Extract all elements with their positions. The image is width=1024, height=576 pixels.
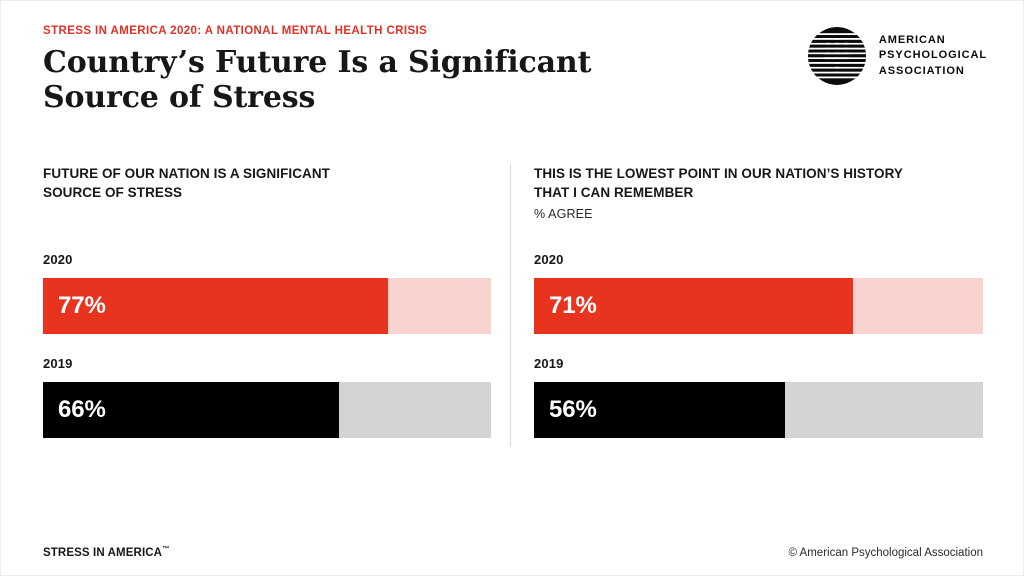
page-title: Country’s Future Is a Significant Source…	[43, 45, 603, 115]
headline-line-1: Country’s Future Is a Significant	[43, 45, 603, 80]
apa-wordmark-line-2: PSYCHOLOGICAL	[879, 48, 987, 64]
bar-group-2020: 2020 71%	[534, 253, 983, 334]
bar-track: 66%	[43, 382, 491, 438]
panel-title-line-2: SOURCE OF STRESS	[43, 185, 182, 200]
chart-panel-lowest-point: THIS IS THE LOWEST POINT IN OUR NATION’S…	[534, 164, 983, 223]
panel-title-line-2: THAT I CAN REMEMBER	[534, 185, 693, 200]
bar-fill: 66%	[43, 382, 339, 438]
panel-title: THIS IS THE LOWEST POINT IN OUR NATION’S…	[534, 164, 983, 202]
footer-brand: STRESS IN AMERICA™	[43, 545, 169, 559]
chart-panel-future-of-nation: FUTURE OF OUR NATION IS A SIGNIFICANT SO…	[43, 164, 491, 202]
bar-year-label: 2019	[534, 357, 983, 370]
eyebrow-kicker: STRESS IN AMERICA 2020: A NATIONAL MENTA…	[43, 25, 603, 39]
bar-year-label: 2020	[534, 253, 983, 266]
bar-year-label: 2020	[43, 253, 491, 266]
footer-brand-text: STRESS IN AMERICA	[43, 547, 162, 559]
bar-fill: 77%	[43, 278, 388, 334]
bar-track: 77%	[43, 278, 491, 334]
trademark-symbol: ™	[162, 545, 169, 553]
header: STRESS IN AMERICA 2020: A NATIONAL MENTA…	[43, 25, 603, 115]
bar-value-label: 66%	[43, 398, 106, 422]
bar-value-label: 56%	[534, 398, 597, 422]
bar-track: 71%	[534, 278, 983, 334]
apa-wordmark-line-3: ASSOCIATION	[879, 64, 987, 80]
headline-line-2: Source of Stress	[43, 80, 603, 115]
panel-divider	[510, 164, 511, 447]
bar-year-label: 2019	[43, 357, 491, 370]
footer: STRESS IN AMERICA™ © American Psychologi…	[1, 529, 1024, 575]
bar-value-label: 71%	[534, 294, 597, 318]
footer-copyright: © American Psychological Association	[789, 547, 983, 559]
apa-logo: AMERICAN PSYCHOLOGICAL ASSOCIATION	[806, 25, 987, 87]
bar-group-2019: 2019 56%	[534, 357, 983, 438]
bar-group-2020: 2020 77%	[43, 253, 491, 334]
bar-fill: 71%	[534, 278, 853, 334]
panel-title: FUTURE OF OUR NATION IS A SIGNIFICANT SO…	[43, 164, 491, 202]
panel-title-line-1: FUTURE OF OUR NATION IS A SIGNIFICANT	[43, 166, 330, 181]
apa-wordmark-line-1: AMERICAN	[879, 33, 987, 49]
infographic-canvas: STRESS IN AMERICA 2020: A NATIONAL MENTA…	[0, 0, 1024, 576]
bar-track: 56%	[534, 382, 983, 438]
bar-group-2019: 2019 66%	[43, 357, 491, 438]
bar-fill: 56%	[534, 382, 785, 438]
panel-subtitle: % AGREE	[534, 206, 983, 222]
apa-psi-circle-icon	[806, 25, 868, 87]
apa-wordmark: AMERICAN PSYCHOLOGICAL ASSOCIATION	[879, 33, 987, 80]
charts-area: FUTURE OF OUR NATION IS A SIGNIFICANT SO…	[1, 164, 1024, 449]
bar-value-label: 77%	[43, 294, 106, 318]
panel-title-line-1: THIS IS THE LOWEST POINT IN OUR NATION’S…	[534, 166, 903, 181]
